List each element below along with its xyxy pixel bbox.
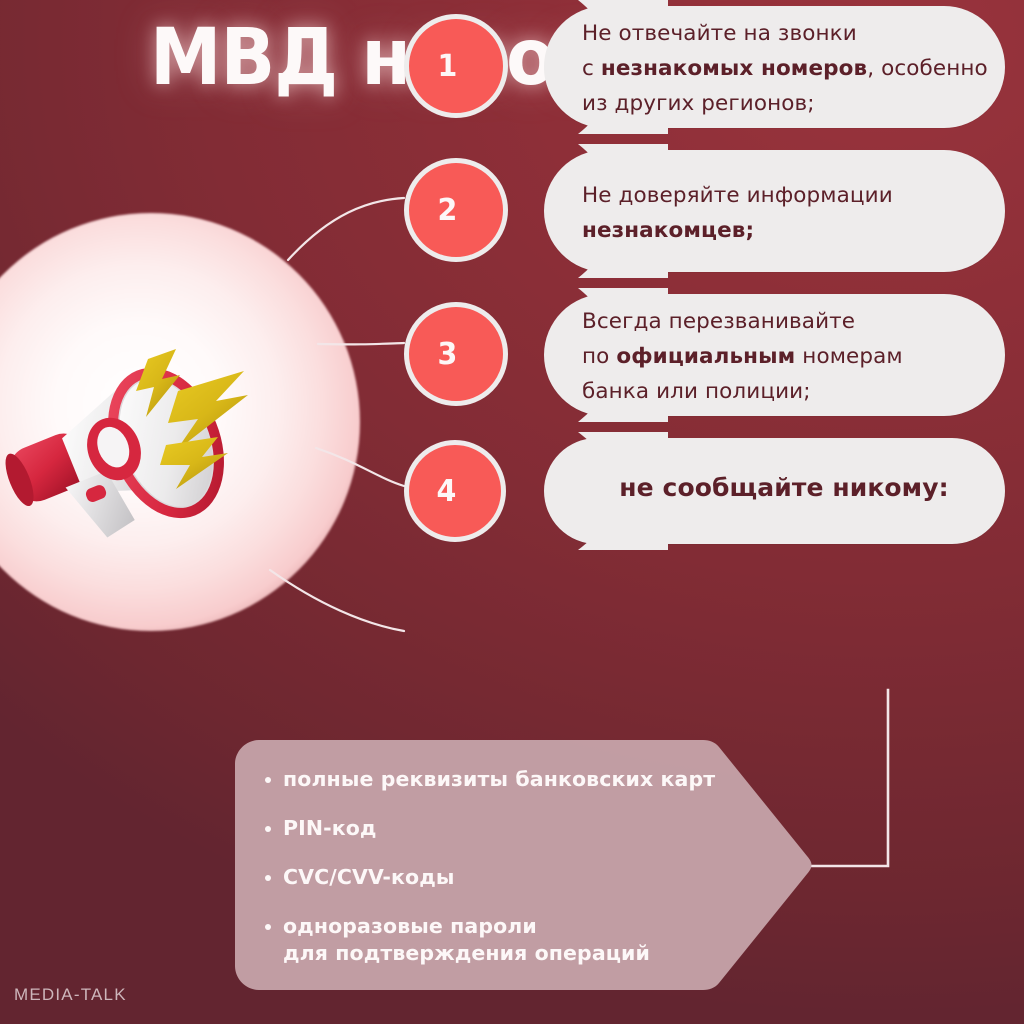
watermark: MEDIA-TALK	[14, 985, 127, 1005]
bullet-dot-icon	[265, 875, 271, 881]
step-number-2: 2	[437, 193, 457, 228]
step-number-3: 3	[437, 337, 457, 372]
bullet-dot-icon	[265, 826, 271, 832]
secrets-panel: полные реквизиты банковских карт PIN-код…	[235, 740, 815, 990]
step-text-2: Не доверяйте информации незнакомцев;	[582, 178, 992, 248]
step-number-4: 4	[436, 474, 456, 509]
step-text-3: Всегда перезванивайте по официальным ном…	[582, 304, 992, 409]
step-badge-2[interactable]: 2	[404, 158, 508, 262]
step-number-1: 1	[437, 49, 457, 84]
secrets-list: полные реквизиты банковских карт PIN-код…	[235, 740, 815, 990]
list-item: одноразовые пароли для подтверждения опе…	[265, 913, 815, 967]
step-badge-1[interactable]: 1	[404, 14, 508, 118]
step-badge-4[interactable]: 4	[404, 440, 506, 542]
list-item: полные реквизиты банковских карт	[265, 766, 815, 793]
list-item: CVC/CVV-коды	[265, 864, 815, 891]
step-text-1: Не отвечайте на звонки с незнакомых номе…	[582, 16, 992, 121]
step-badge-3[interactable]: 3	[404, 302, 508, 406]
bullet-dot-icon	[265, 777, 271, 783]
megaphone-icon	[0, 325, 290, 555]
bullet-dot-icon	[265, 924, 271, 930]
step-text-4: не сообщайте никому:	[582, 470, 986, 505]
infographic-poster: МВД напоминает:	[0, 0, 1024, 1024]
list-item: PIN-код	[265, 815, 815, 842]
